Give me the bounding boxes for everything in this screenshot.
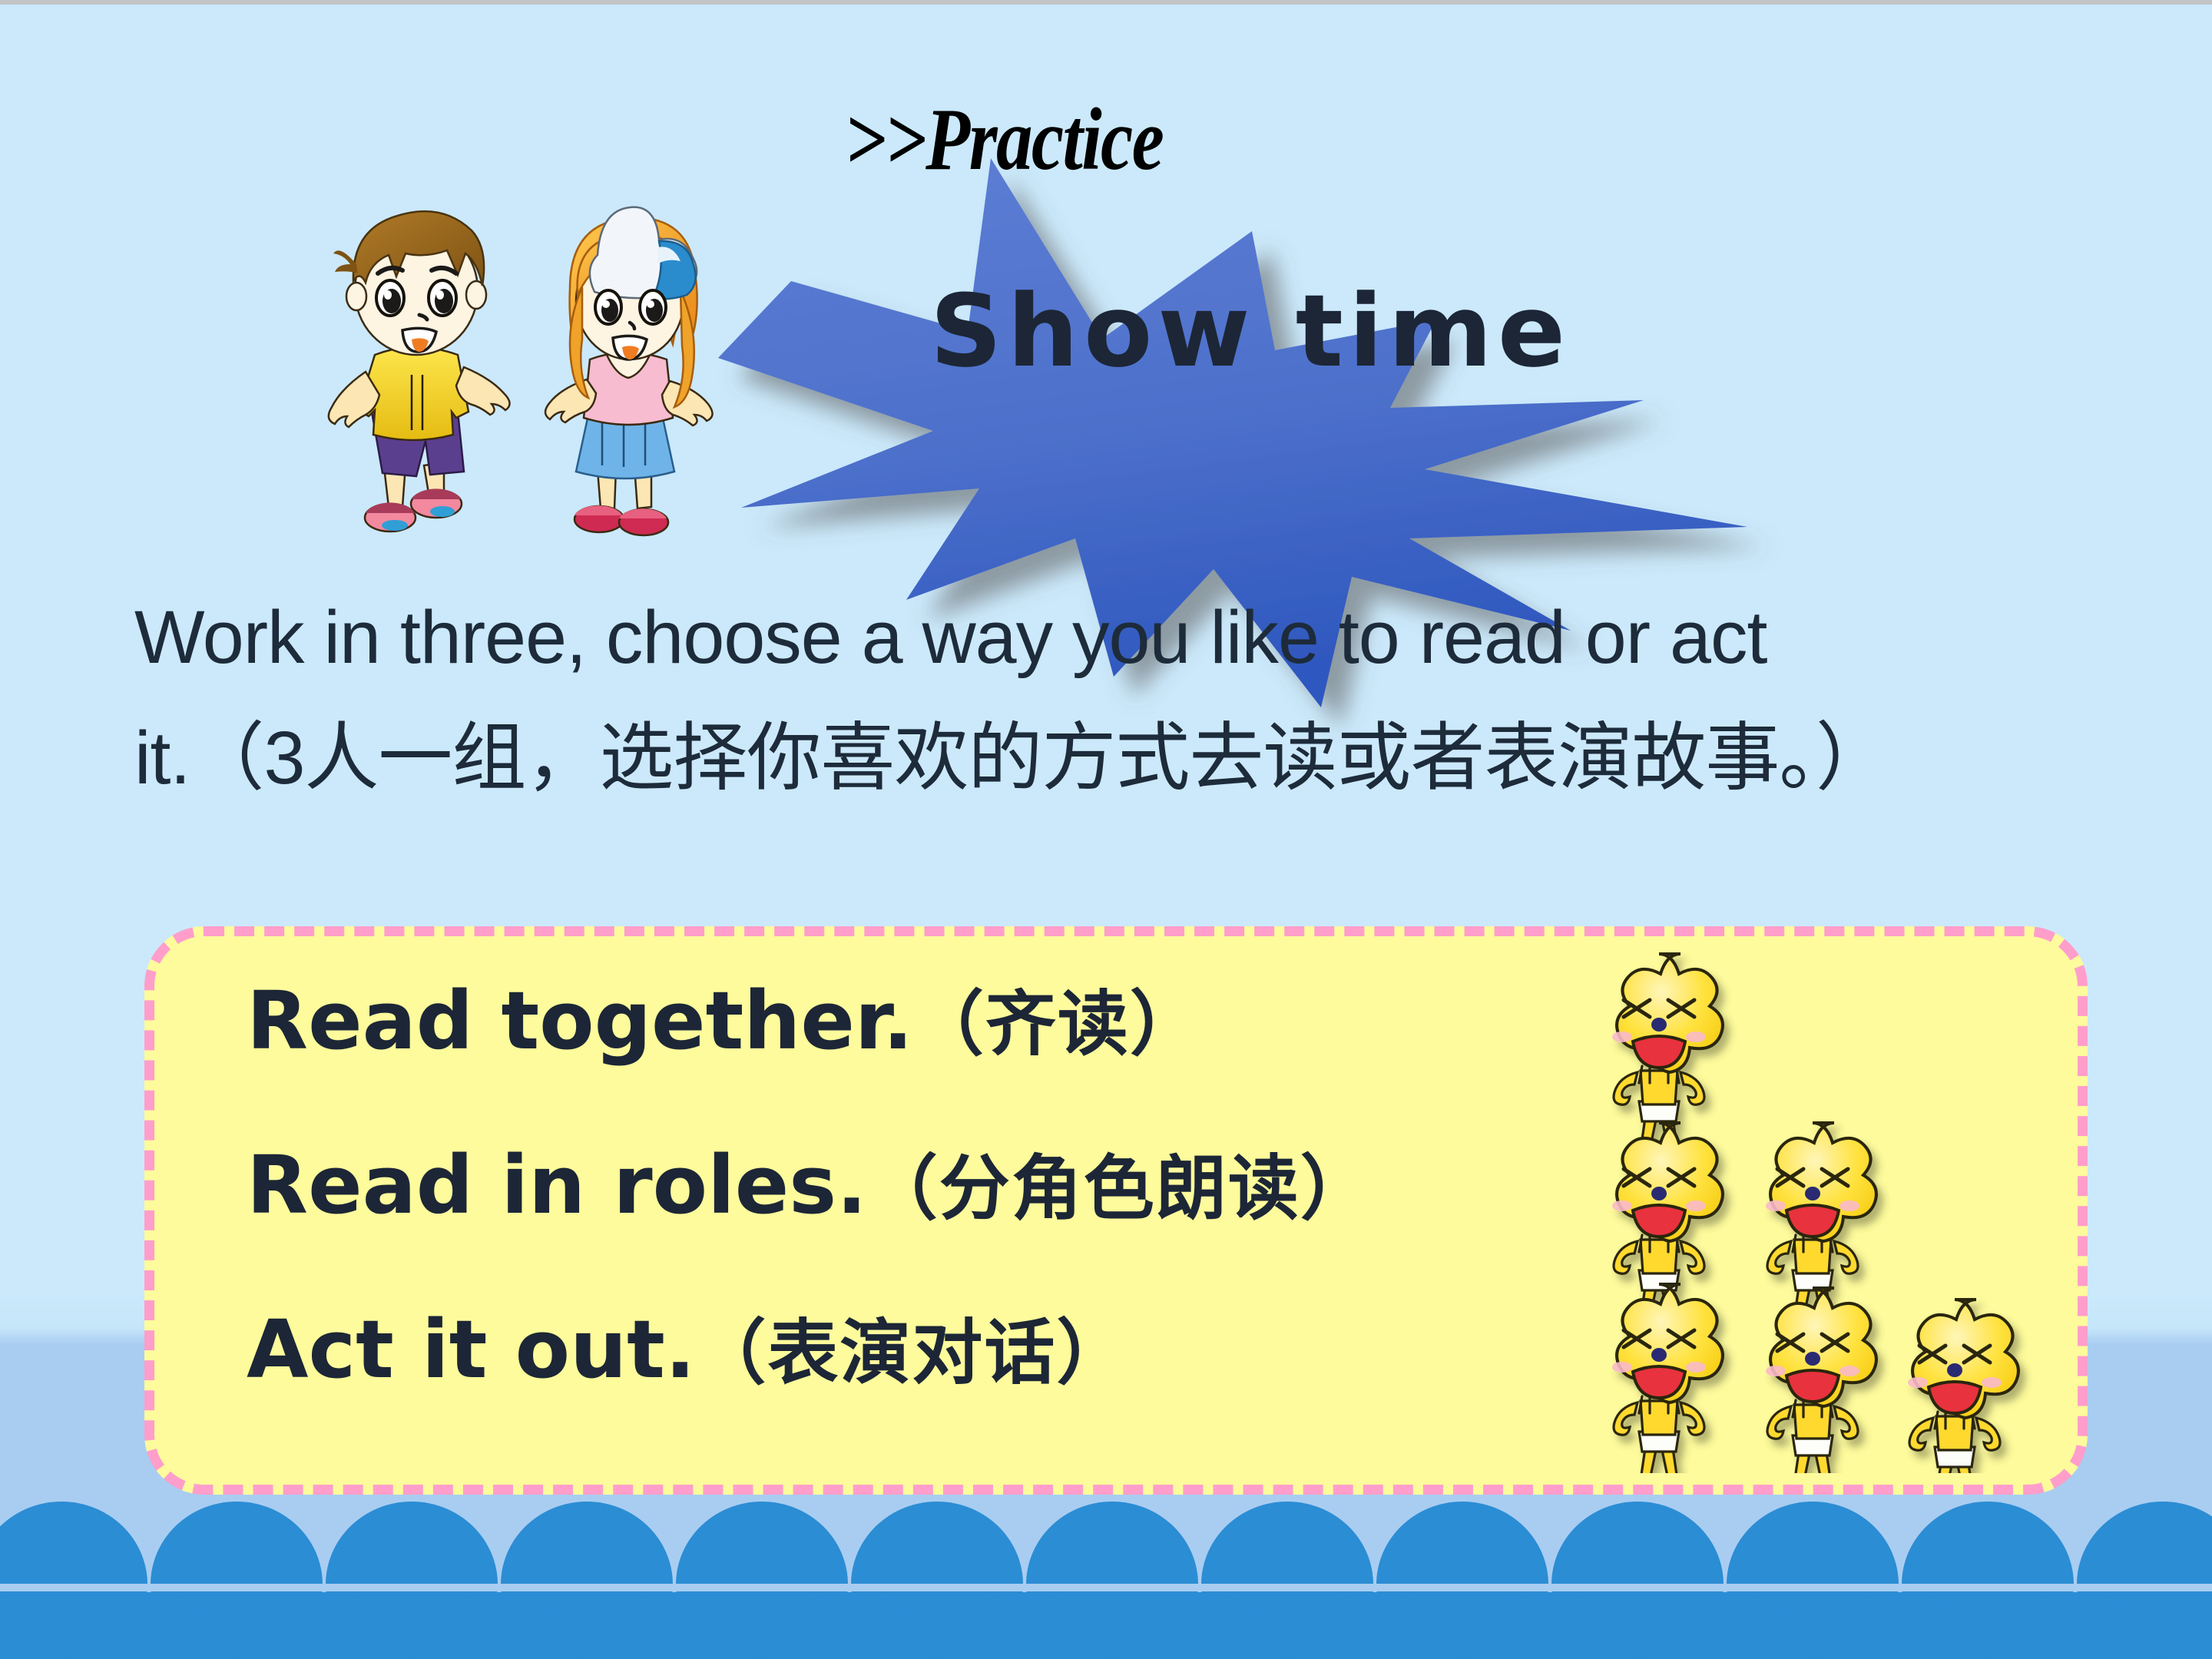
slide-canvas: >>Practice Show time (0, 0, 2212, 1659)
star-mascot (1766, 1288, 1876, 1473)
option-act-it-out-en: Act it out. (247, 1303, 695, 1396)
option-read-in-roles-en: Read in roles. (247, 1138, 867, 1232)
option-read-in-roles-cn: （分角色朗读） (867, 1147, 1373, 1230)
boy-figure (329, 211, 510, 531)
star-mascot (1612, 954, 1723, 1146)
option-read-together-en: Read together. (247, 974, 913, 1068)
cartoon-kids-illustration (292, 197, 753, 558)
option-read-together-cn: （齐读） (913, 983, 1202, 1065)
footer-arch-pattern (0, 1494, 2212, 1659)
star-mascot (1612, 1284, 1723, 1473)
star-mascot (1908, 1300, 2018, 1473)
instruction-line-2: it.（3人一组，选择你喜欢的方式去读或者表演故事。） (134, 697, 2101, 818)
sailor-hat (590, 207, 697, 300)
show-time-banner: Show time (714, 139, 1759, 523)
instruction-text: Work in three, choose a way you like to … (134, 577, 2101, 818)
instruction-line-1: Work in three, choose a way you like to … (134, 577, 2101, 697)
star-mascot (1766, 1123, 1876, 1315)
page-title: >>Practice (845, 95, 1163, 184)
option-act-it-out-cn: （表演对话） (695, 1312, 1128, 1394)
star-mascots-group (1559, 943, 2035, 1473)
girl-figure (545, 207, 713, 535)
